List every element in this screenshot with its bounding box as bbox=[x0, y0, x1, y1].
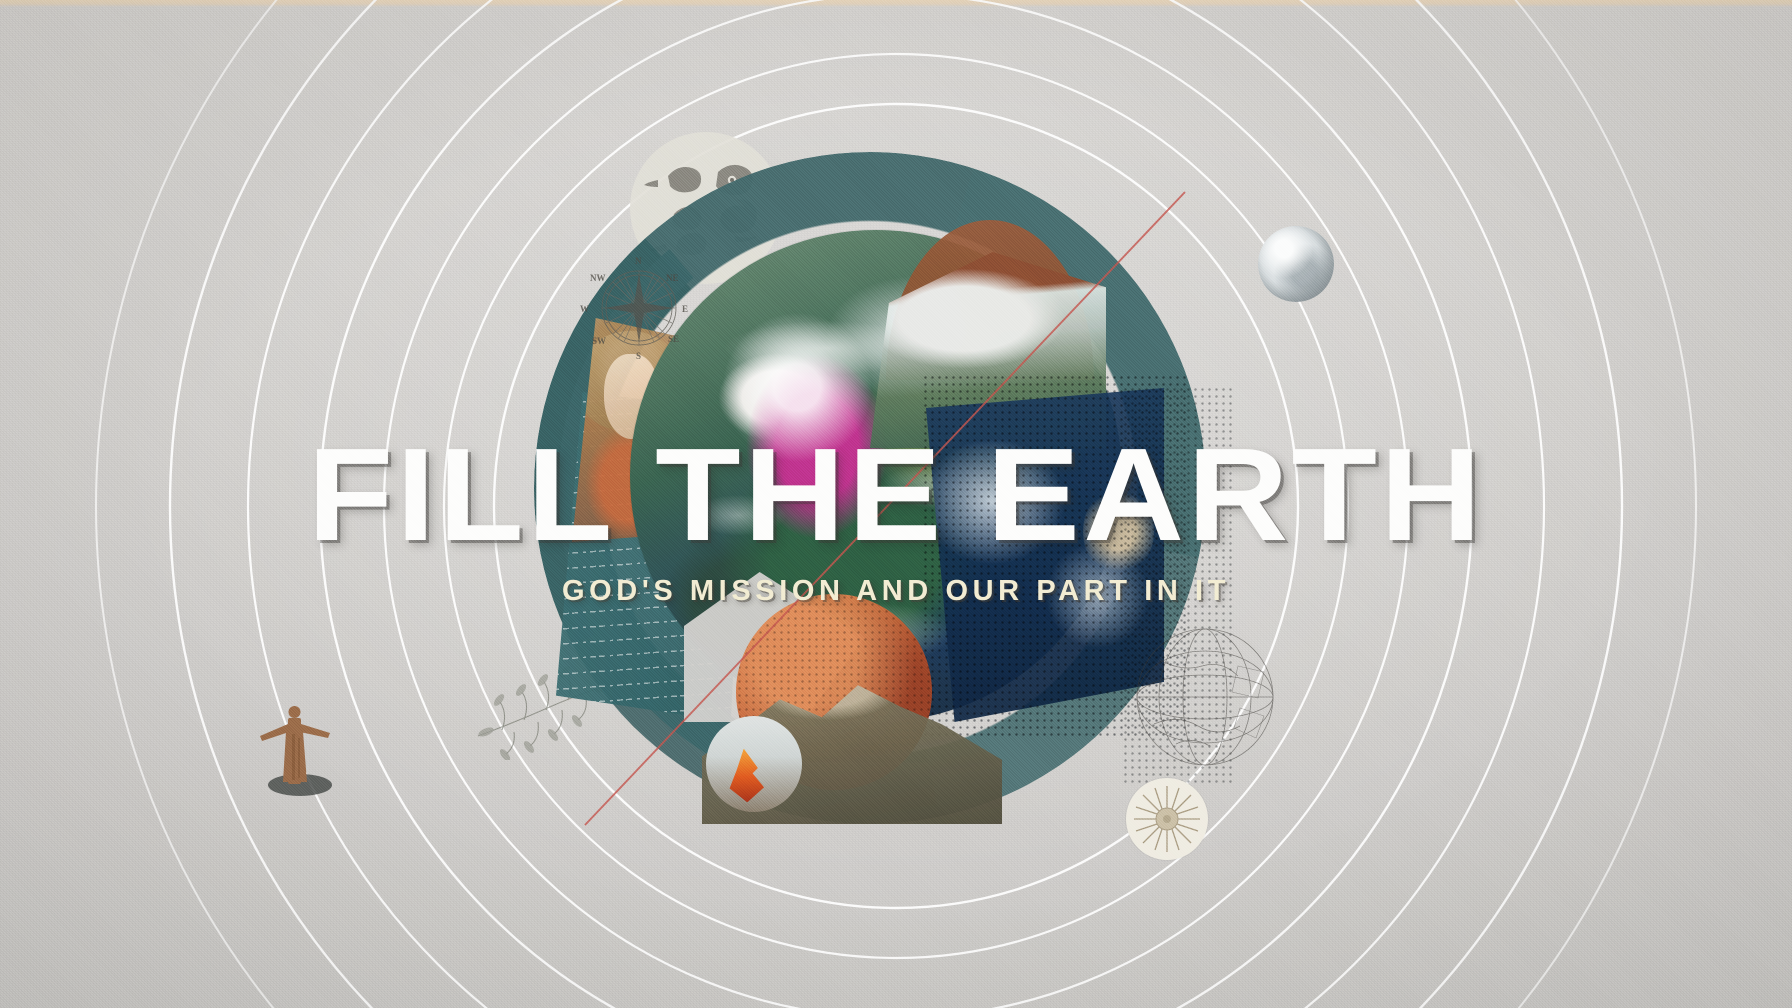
sun-burst-icon bbox=[1126, 778, 1208, 860]
compass-label-w: W bbox=[580, 304, 589, 314]
flame-shape bbox=[725, 749, 769, 803]
fire-circle bbox=[706, 716, 802, 812]
christ-the-redeemer-statue bbox=[252, 688, 338, 798]
sun-medallion bbox=[1126, 778, 1208, 860]
top-tan-strip bbox=[0, 0, 1792, 7]
compass-label-se: SE bbox=[668, 334, 679, 344]
compass-label-ne: NE bbox=[666, 273, 679, 283]
title-graphic-canvas: N NE E SE S SW W NW bbox=[0, 0, 1792, 1008]
compass-label-n: N bbox=[635, 256, 642, 266]
compass-label-sw: SW bbox=[592, 336, 606, 346]
compass-label-s: S bbox=[636, 351, 641, 361]
compass-label-e: E bbox=[682, 304, 688, 314]
wireframe-globe bbox=[1120, 612, 1290, 782]
compass-rose: N NE E SE S SW W NW bbox=[576, 242, 702, 368]
moon bbox=[1258, 226, 1334, 302]
compass-label-nw: NW bbox=[590, 273, 606, 283]
